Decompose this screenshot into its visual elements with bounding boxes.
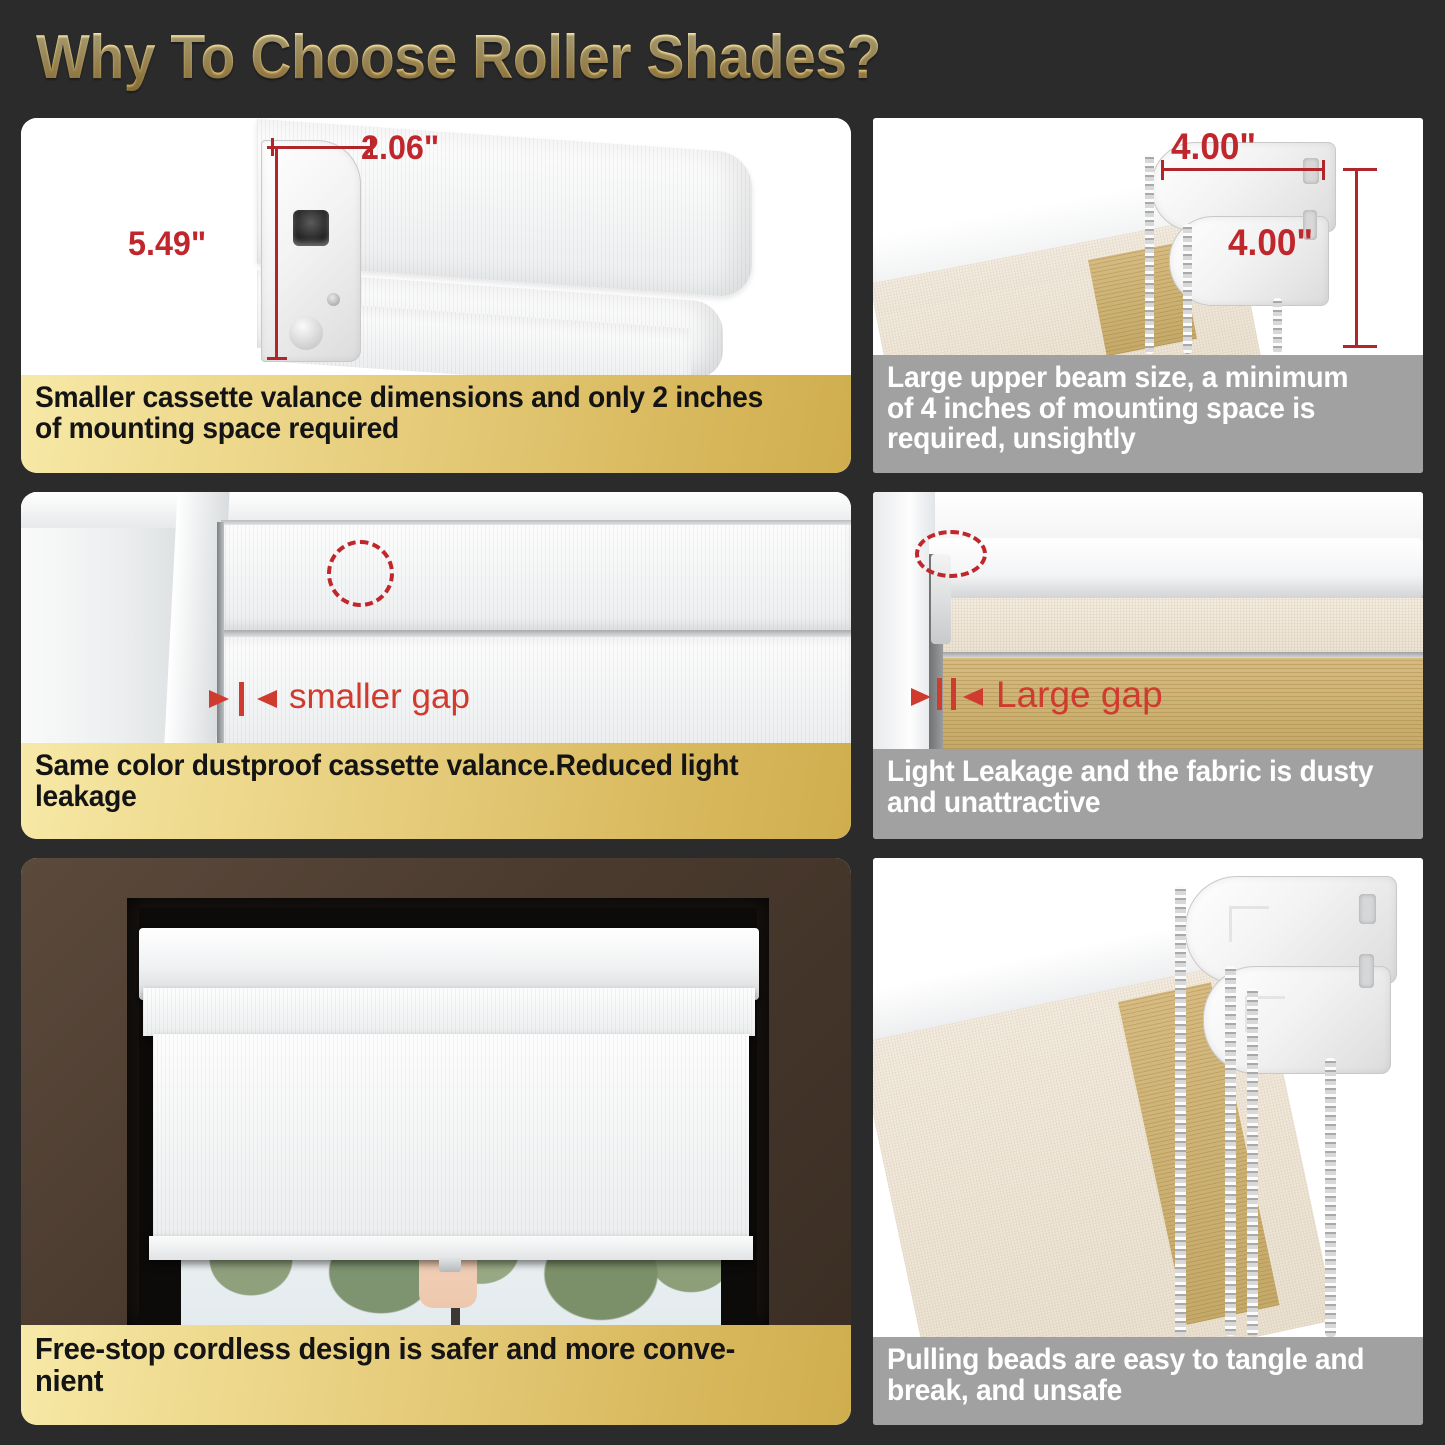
bead-chain — [1273, 298, 1282, 354]
panel-caption-text: Same color dustproof cassette valance.Re… — [35, 751, 789, 812]
panel-caption-text: Pulling beads are easy to tangle and bre… — [887, 1345, 1378, 1406]
panel-cordless-design: Free-stop cordless design is safer and m… — [21, 858, 851, 1425]
bead-chain — [1225, 966, 1236, 1336]
bead-chain — [1325, 1058, 1336, 1337]
bead-chain — [1175, 886, 1186, 1336]
height-dimension-line — [275, 146, 278, 360]
gap-callout-label: smaller gap — [289, 677, 470, 717]
window-frame-left — [21, 492, 189, 743]
gap-arrow-outer-left — [911, 688, 931, 706]
bead-chain — [1183, 224, 1192, 354]
valance-top-seam — [221, 520, 851, 525]
bead-chain — [1247, 988, 1258, 1336]
beam-width-tick-left — [1161, 160, 1164, 180]
title-bar: Why To Choose Roller Shades? — [36, 14, 1416, 104]
gap-highlight-circle — [915, 530, 987, 578]
gap-marker-bar — [937, 678, 942, 710]
beam-width-dimension-label: 4.00" — [1171, 126, 1256, 168]
gap-arrow-right — [963, 688, 983, 706]
beam-width-dimension-line — [1161, 168, 1325, 171]
panel-caption: Pulling beads are easy to tangle and bre… — [873, 1337, 1423, 1425]
bead-chain — [1145, 154, 1154, 354]
gap-highlight-circle — [327, 540, 394, 607]
pulling-beads-photo — [873, 858, 1423, 1337]
gap-arrow-outer-left — [209, 690, 229, 708]
panel-caption-text: Smaller cassette valance dimensions and … — [35, 383, 789, 444]
beam-height-dimension-line — [1355, 168, 1358, 348]
panel-caption: Free-stop cordless design is safer and m… — [21, 1325, 851, 1425]
cassette-valance-header — [221, 522, 851, 630]
bracket-clip-slot-icon-2 — [1359, 954, 1374, 988]
beam-height-tick-top — [1343, 168, 1377, 171]
panel-cassette-dimensions: 2.06" 5.49" Smaller cassette valance dim… — [21, 118, 851, 473]
room-window-photo — [21, 858, 851, 1325]
valance-front-lip — [143, 988, 755, 1036]
panel-large-gap: Large gap Light Leakage and the fabric i… — [873, 492, 1423, 839]
panel-large-upper-beam: 4.00" 4.00" Large upper beam size, a min… — [873, 118, 1423, 473]
bracket-arrow-icon — [1229, 906, 1269, 942]
gap-shadow — [217, 522, 224, 743]
cassette-valance-photo: 2.06" 5.49" — [21, 118, 851, 375]
bracket-clip-slot-icon — [1303, 158, 1319, 184]
shade-pull-tab-icon — [439, 1256, 461, 1272]
panel-caption: Smaller cassette valance dimensions and … — [21, 375, 851, 473]
panel-caption-text: Large upper beam size, a minimum of 4 in… — [887, 363, 1378, 455]
beam-height-tick-bottom — [1343, 345, 1377, 348]
bracket-clip-slot-icon — [1359, 894, 1376, 924]
panel-pulling-beads: Pulling beads are easy to tangle and bre… — [873, 858, 1423, 1425]
panel-caption-text: Light Leakage and the fabric is dusty an… — [887, 757, 1378, 818]
valance-bottom-rail — [221, 630, 851, 637]
end-cap-screw-icon — [327, 293, 340, 306]
panel-smaller-gap: smaller gap Same color dustproof cassett… — [21, 492, 851, 839]
gap-marker-bar-2 — [951, 678, 956, 710]
roller-tube — [929, 538, 1423, 600]
shade-fabric-cream — [937, 598, 1423, 654]
height-dimension-tick-bottom — [267, 357, 287, 360]
gap-marker-bar — [239, 682, 244, 716]
large-beam-photo: 4.00" 4.00" — [873, 118, 1423, 355]
gap-callout-label: Large gap — [996, 674, 1163, 716]
large-gap-photo: Large gap — [873, 492, 1423, 749]
width-dimension-label: 2.06" — [361, 129, 439, 168]
panel-caption: Same color dustproof cassette valance.Re… — [21, 743, 851, 839]
shade-fabric — [153, 1034, 749, 1244]
window-jamb — [873, 492, 935, 749]
panel-caption-text: Free-stop cordless design is safer and m… — [35, 1333, 789, 1396]
gap-arrow-right — [257, 690, 277, 708]
page-title: Why To Choose Roller Shades? — [36, 14, 1306, 102]
panel-caption: Light Leakage and the fabric is dusty an… — [873, 749, 1423, 839]
height-dimension-tick-top — [267, 146, 287, 149]
end-cap-lower-knob-icon — [289, 316, 323, 350]
height-dimension-label: 5.49" — [128, 225, 206, 264]
panel-caption: Large upper beam size, a minimum of 4 in… — [873, 355, 1423, 473]
end-cap-slot-icon — [293, 210, 329, 246]
beam-height-dimension-label: 4.00" — [1228, 222, 1313, 264]
smaller-gap-photo: smaller gap — [21, 492, 851, 743]
beam-width-tick-right — [1322, 160, 1325, 180]
